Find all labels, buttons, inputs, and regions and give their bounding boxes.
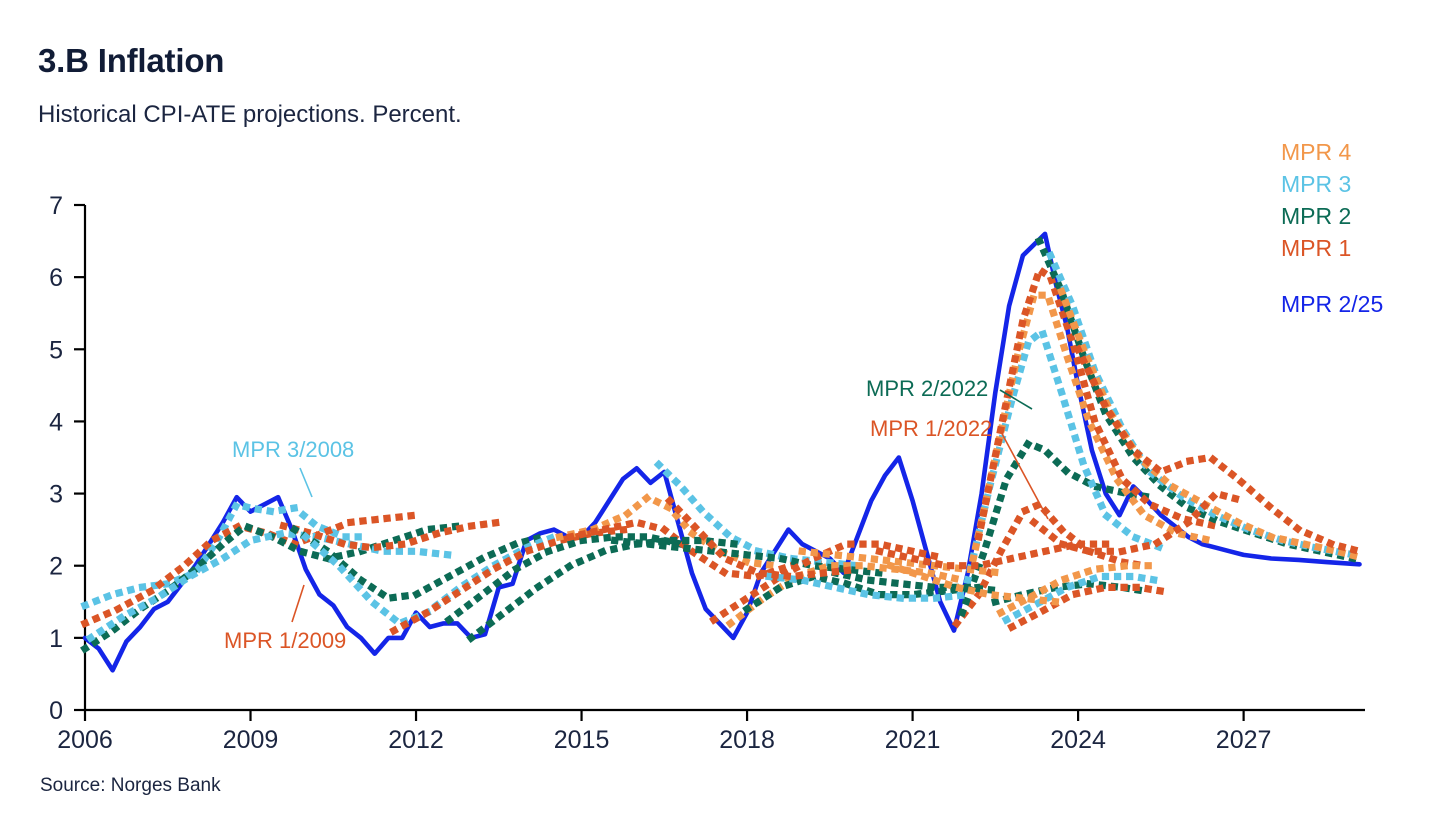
chart-annotation-label: MPR 1/2022	[870, 416, 992, 441]
legend-item-mpr-4[interactable]: MPR 4	[1281, 136, 1383, 168]
legend-item-mpr-1[interactable]: MPR 1	[1281, 232, 1383, 264]
x-axis-tick-label: 2024	[1050, 726, 1106, 754]
chart-annotation-label: MPR 1/2009	[224, 628, 346, 653]
y-axis-tick-label: 5	[49, 336, 63, 364]
x-axis-tick-label: 2009	[223, 726, 279, 754]
chart-annotation-group: MPR 3/2008MPR 1/2009MPR 2/2022MPR 1/2022	[224, 376, 1048, 653]
y-axis-tick-label: 3	[49, 481, 63, 509]
y-axis-tick-label: 4	[49, 408, 63, 436]
annotation-leader-line	[300, 468, 312, 497]
chart-series-line	[1078, 349, 1359, 551]
chart-series-line	[306, 537, 554, 624]
y-axis-tick-label: 0	[49, 697, 63, 725]
chart-annotation-label: MPR 2/2022	[866, 376, 988, 401]
x-axis-tick-label: 2027	[1216, 726, 1272, 754]
y-axis-tick-label: 2	[49, 553, 63, 581]
chart-container: 3.B Inflation Historical CPI-ATE project…	[0, 0, 1445, 813]
x-axis-tick-label: 2006	[57, 726, 113, 754]
y-axis-tick-label: 7	[49, 192, 63, 220]
chart-series-line	[449, 537, 681, 620]
annotation-leader-line	[292, 585, 304, 622]
x-axis-tick-label: 2012	[388, 726, 444, 754]
x-axis-tick-label: 2015	[554, 726, 610, 754]
legend-item-mpr-2[interactable]: MPR 2	[1281, 200, 1383, 232]
chart-plot: 0123456720062009201220152018202120242027…	[0, 0, 1445, 813]
y-axis-tick-label: 6	[49, 264, 63, 292]
chart-annotation-label: MPR 3/2008	[232, 437, 354, 462]
chart-legend: MPR 4MPR 3MPR 2MPR 1MPR 2/25	[1281, 136, 1383, 320]
chart-series-line	[394, 530, 626, 631]
source-note: Source: Norges Bank	[40, 775, 221, 797]
x-axis-tick-label: 2021	[885, 726, 941, 754]
legend-item-mpr-3[interactable]: MPR 3	[1281, 168, 1383, 200]
x-axis-tick-label: 2018	[719, 726, 775, 754]
legend-item-mpr-2-25[interactable]: MPR 2/25	[1281, 288, 1383, 320]
y-axis-tick-label: 1	[49, 625, 63, 653]
